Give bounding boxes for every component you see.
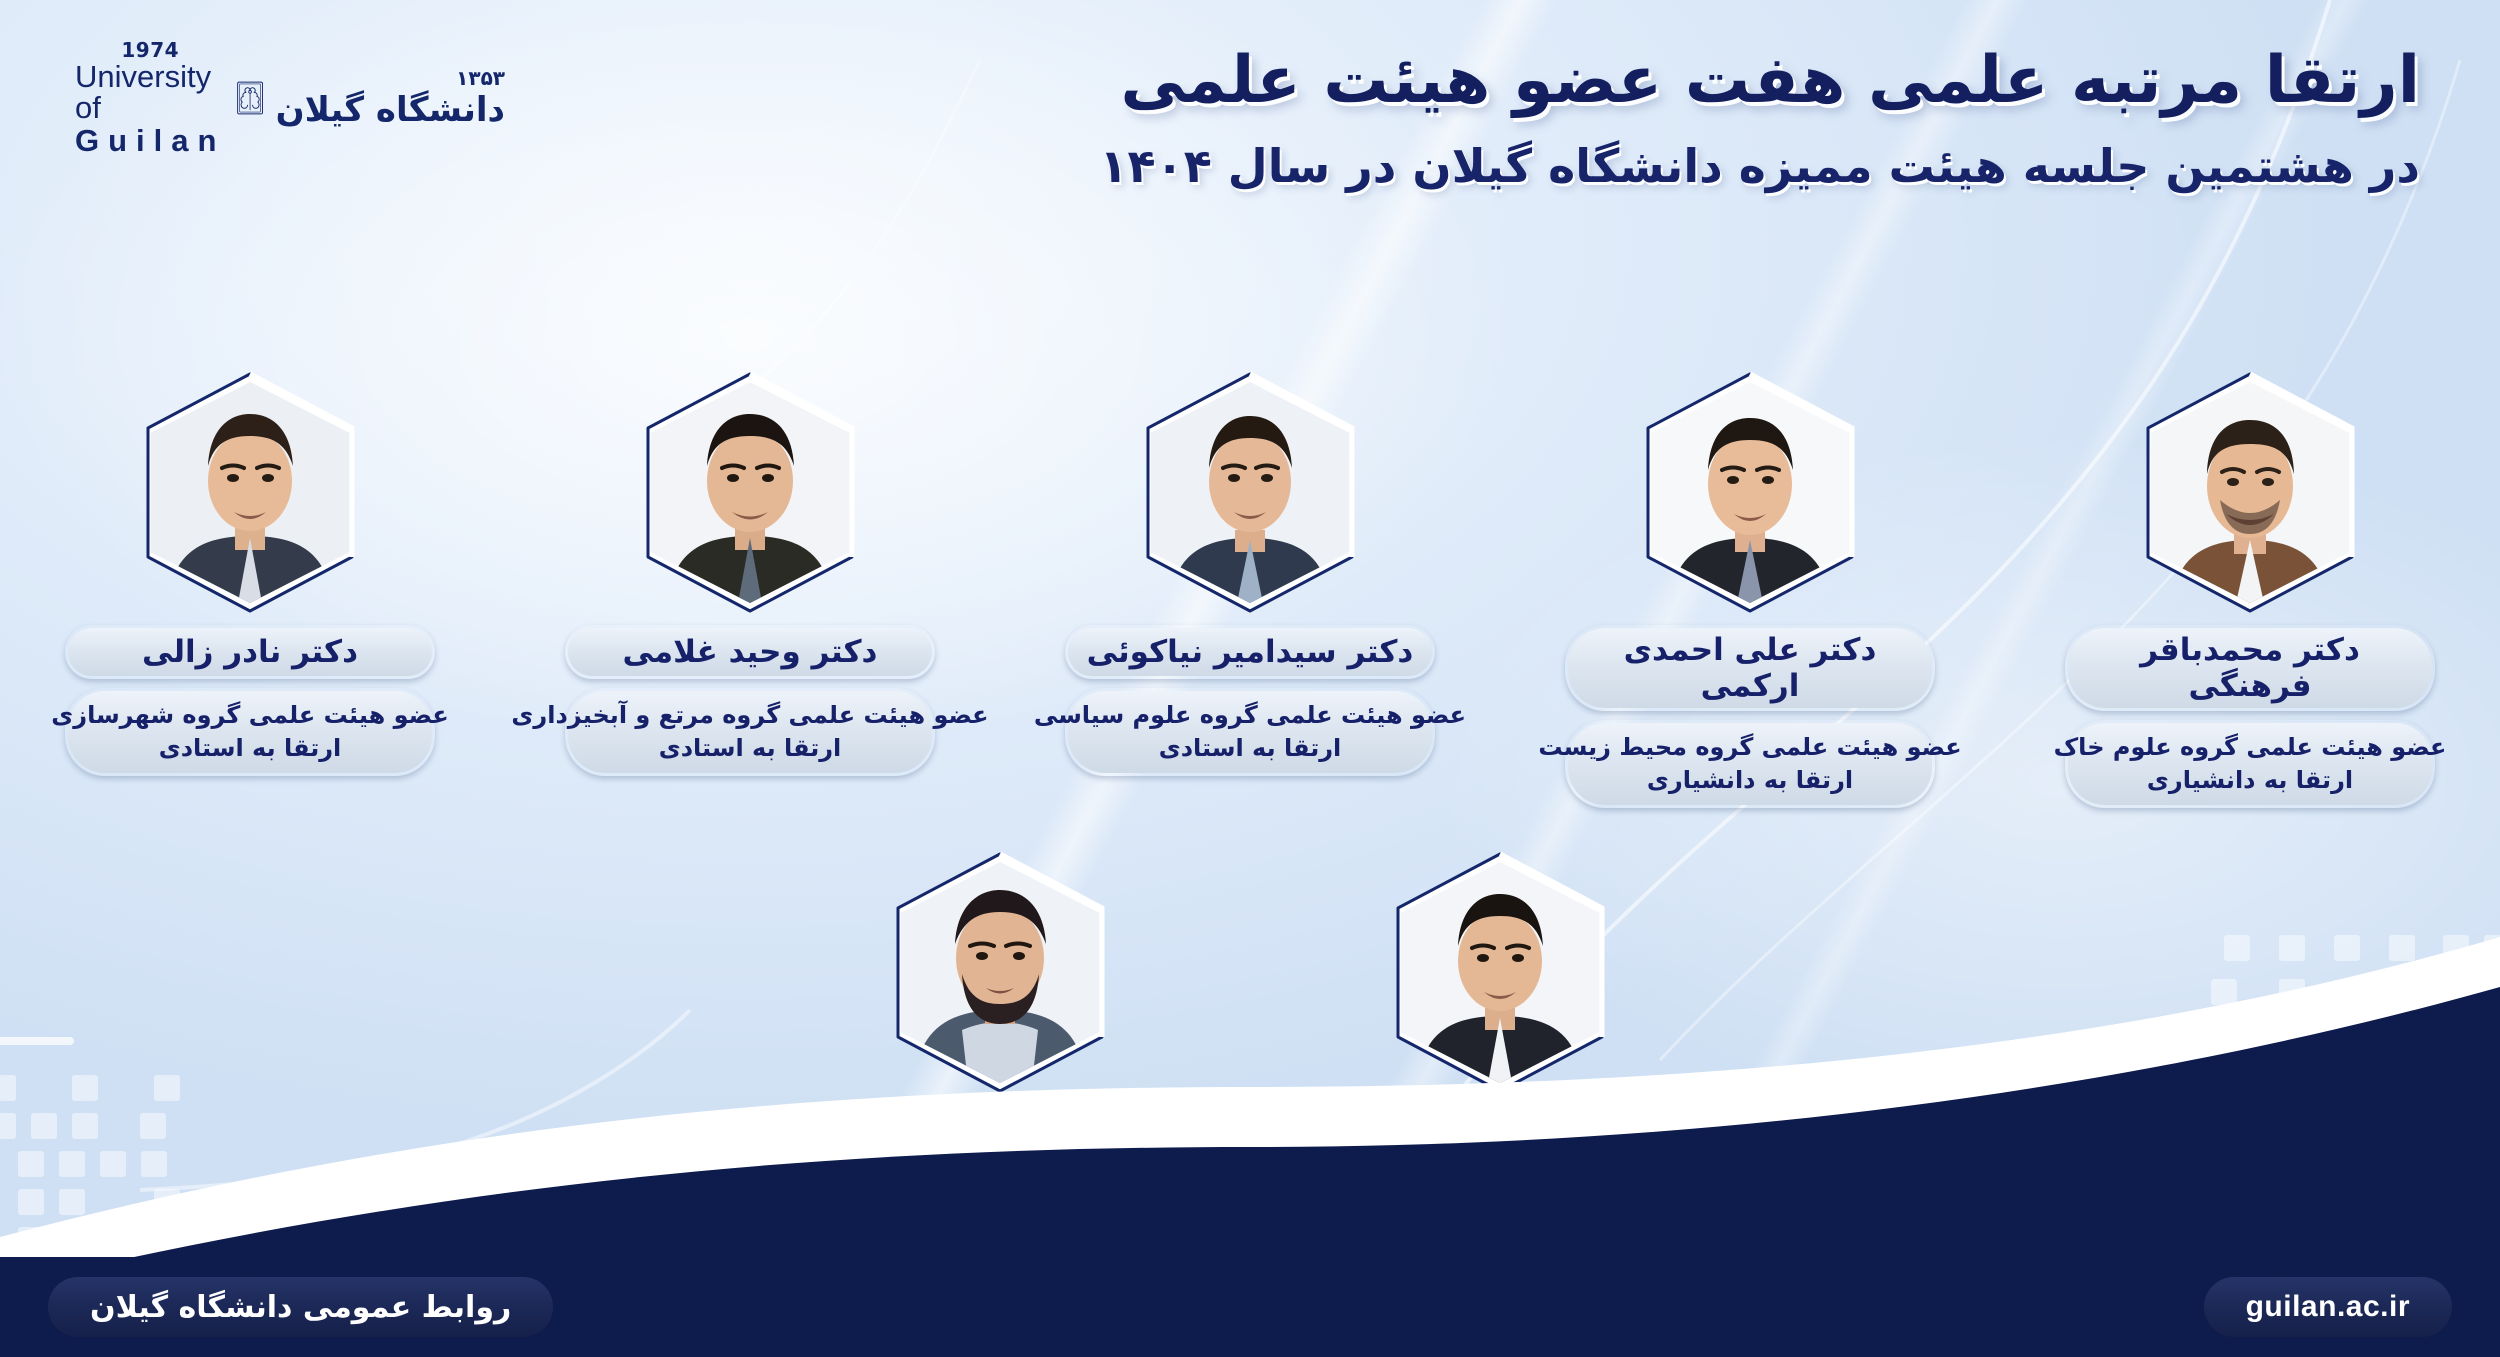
person-role-pill: عضو هیئت علمی گروه مرتع و آبخیزداری ارتق… bbox=[565, 688, 935, 776]
person-name-pill: دکتر نادر زالی bbox=[65, 625, 435, 679]
person-card[interactable]: دکتر سید روح‌ا... کاظمی عضو هیئت علمی گر… bbox=[750, 850, 1250, 1288]
person-promotion: ارتقا به استادی bbox=[659, 732, 842, 765]
person-role-pill: عضو هیئت علمی گروه مهندسی عمران ارتقا به… bbox=[1315, 1168, 1685, 1256]
public-relations-badge[interactable]: روابط عمومی دانشگاه گیلان bbox=[48, 1277, 553, 1337]
poster-root: 1974 University of Guilan ۱۳۵۳ دانشگاه گ… bbox=[0, 0, 2500, 1357]
guilan-emblem-icon bbox=[237, 45, 263, 151]
public-relations-label: روابط عمومی دانشگاه گیلان bbox=[90, 1290, 511, 1325]
person-department: عضو هیئت علمی گروه طراحی جامدات bbox=[771, 1211, 1229, 1244]
logo-university-name-fa: دانشگاه گیلان bbox=[276, 90, 505, 130]
person-name: دکتر علی احمدی ارکمی bbox=[1584, 632, 1916, 704]
person-department: عضو هیئت علمی گروه محیط زیست bbox=[1538, 731, 1961, 764]
person-name-pill: دکتر هادی احمدی bbox=[1315, 1105, 1685, 1159]
person-department: عضو هیئت علمی گروه علوم خاک bbox=[2054, 731, 2447, 764]
person-role-pill: عضو هیئت علمی گروه علوم سیاسی ارتقا به ا… bbox=[1065, 688, 1435, 776]
person-role-pill: عضو هیئت علمی گروه علوم خاک ارتقا به دان… bbox=[2065, 720, 2435, 808]
logo-english-text: 1974 University of Guilan bbox=[75, 40, 225, 156]
photo-frame bbox=[1380, 850, 1620, 1095]
person-name-pill: دکتر سیدامیر نیاکوئی bbox=[1065, 625, 1435, 679]
header-titles: ارتقا مرتبه علمی هفت عضو هیئت علمی در هش… bbox=[800, 40, 2420, 197]
logo-university-word: University of bbox=[75, 61, 225, 123]
logo-persian-text: ۱۳۵۳ دانشگاه گیلان bbox=[276, 66, 505, 130]
person-name: دکتر سید روح‌ا... کاظمی bbox=[834, 1112, 1166, 1184]
person-promotion: ارتقا به استادی bbox=[1159, 732, 1342, 765]
person-department: عضو هیئت علمی گروه شهرسازی bbox=[51, 699, 449, 732]
person-card[interactable]: دکتر هادی احمدی عضو هیئت علمی گروه مهندس… bbox=[1250, 850, 1750, 1288]
person-card[interactable]: دکتر محمدباقر فرهنگی عضو هیئت علمی گروه … bbox=[2000, 370, 2500, 808]
photo-frame bbox=[130, 370, 370, 615]
person-name-pill: دکتر محمدباقر فرهنگی bbox=[2065, 625, 2435, 711]
person-promotion: ارتقا به دانشیاری bbox=[1647, 764, 1853, 797]
logo-founding-year-en: 1974 bbox=[121, 40, 179, 60]
person-card[interactable]: دکتر سیدامیر نیاکوئی عضو هیئت علمی گروه … bbox=[1000, 370, 1500, 808]
person-department: عضو هیئت علمی گروه علوم سیاسی bbox=[1034, 699, 1466, 732]
university-logo: 1974 University of Guilan ۱۳۵۳ دانشگاه گ… bbox=[75, 38, 505, 158]
page-title: ارتقا مرتبه علمی هفت عضو هیئت علمی bbox=[800, 40, 2420, 121]
logo-founding-year-fa: ۱۳۵۳ bbox=[456, 66, 505, 90]
photo-frame bbox=[880, 850, 1120, 1095]
person-role-pill: عضو هیئت علمی گروه شهرسازی ارتقا به استا… bbox=[65, 688, 435, 776]
people-row-top: دکتر محمدباقر فرهنگی عضو هیئت علمی گروه … bbox=[0, 370, 2500, 808]
person-card[interactable]: دکتر علی احمدی ارکمی عضو هیئت علمی گروه … bbox=[1500, 370, 2000, 808]
person-promotion: ارتقا به دانشیاری bbox=[2147, 764, 2353, 797]
person-name: دکتر نادر زالی bbox=[142, 634, 358, 670]
person-card[interactable]: دکتر وحید غلامی عضو هیئت علمی گروه مرتع … bbox=[500, 370, 1000, 808]
photo-frame bbox=[2130, 370, 2370, 615]
person-department: عضو هیئت علمی گروه مرتع و آبخیزداری bbox=[511, 699, 988, 732]
person-name: دکتر سیدامیر نیاکوئی bbox=[1087, 634, 1414, 670]
photo-frame bbox=[1130, 370, 1370, 615]
person-name-pill: دکتر وحید غلامی bbox=[565, 625, 935, 679]
person-name: دکتر هادی احمدی bbox=[1368, 1114, 1633, 1150]
person-card[interactable]: دکتر نادر زالی عضو هیئت علمی گروه شهرساز… bbox=[0, 370, 500, 808]
page-subtitle: در هشتمین جلسه هیئت ممیزه دانشگاه گیلان … bbox=[800, 137, 2420, 197]
person-name-pill: دکتر علی احمدی ارکمی bbox=[1565, 625, 1935, 711]
website-label: guilan.ac.ir bbox=[2246, 1290, 2410, 1324]
footer-bar: guilan.ac.ir روابط عمومی دانشگاه گیلان bbox=[0, 1257, 2500, 1357]
person-name-pill: دکتر سید روح‌ا... کاظمی bbox=[815, 1105, 1185, 1191]
website-button[interactable]: guilan.ac.ir bbox=[2204, 1277, 2452, 1337]
person-name: دکتر وحید غلامی bbox=[623, 634, 878, 670]
person-promotion: ارتقا به استادی bbox=[159, 732, 342, 765]
people-row-bottom: دکتر هادی احمدی عضو هیئت علمی گروه مهندس… bbox=[0, 850, 2500, 1288]
photo-frame bbox=[1630, 370, 1870, 615]
person-name: دکتر محمدباقر فرهنگی bbox=[2084, 632, 2416, 704]
photo-frame bbox=[630, 370, 870, 615]
person-department: عضو هیئت علمی گروه مهندسی عمران bbox=[1269, 1179, 1730, 1212]
person-role-pill: عضو هیئت علمی گروه محیط زیست ارتقا به دا… bbox=[1565, 720, 1935, 808]
logo-guilan-word: Guilan bbox=[75, 125, 225, 156]
person-promotion: ارتقا به دانشیاری bbox=[1397, 1212, 1603, 1245]
